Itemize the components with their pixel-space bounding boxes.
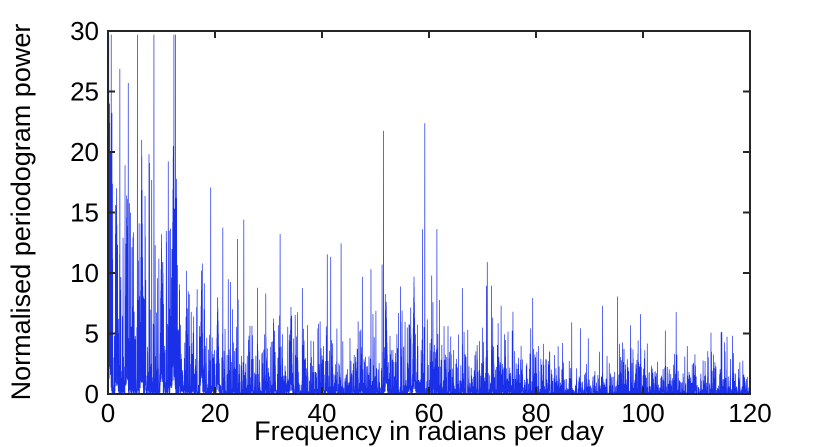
x-tick-label: 100: [621, 398, 664, 428]
y-tick-label: 0: [85, 379, 99, 409]
x-tick-label: 120: [728, 398, 771, 428]
y-tick-label: 15: [70, 198, 99, 228]
x-axis-title: Frequency in radians per day: [254, 416, 604, 446]
y-tick-label: 30: [70, 16, 99, 46]
y-tick-label: 10: [70, 258, 99, 288]
periodogram-chart: 020406080100120051015202530 Frequency in…: [0, 0, 830, 447]
y-axis-title: Normalised periodogram power: [6, 24, 36, 401]
figure-canvas: 020406080100120051015202530 Frequency in…: [0, 0, 830, 447]
x-tick-label: 0: [101, 398, 115, 428]
y-tick-label: 25: [70, 77, 99, 107]
x-tick-label: 20: [201, 398, 230, 428]
y-tick-label: 5: [85, 319, 99, 349]
y-tick-label: 20: [70, 137, 99, 167]
